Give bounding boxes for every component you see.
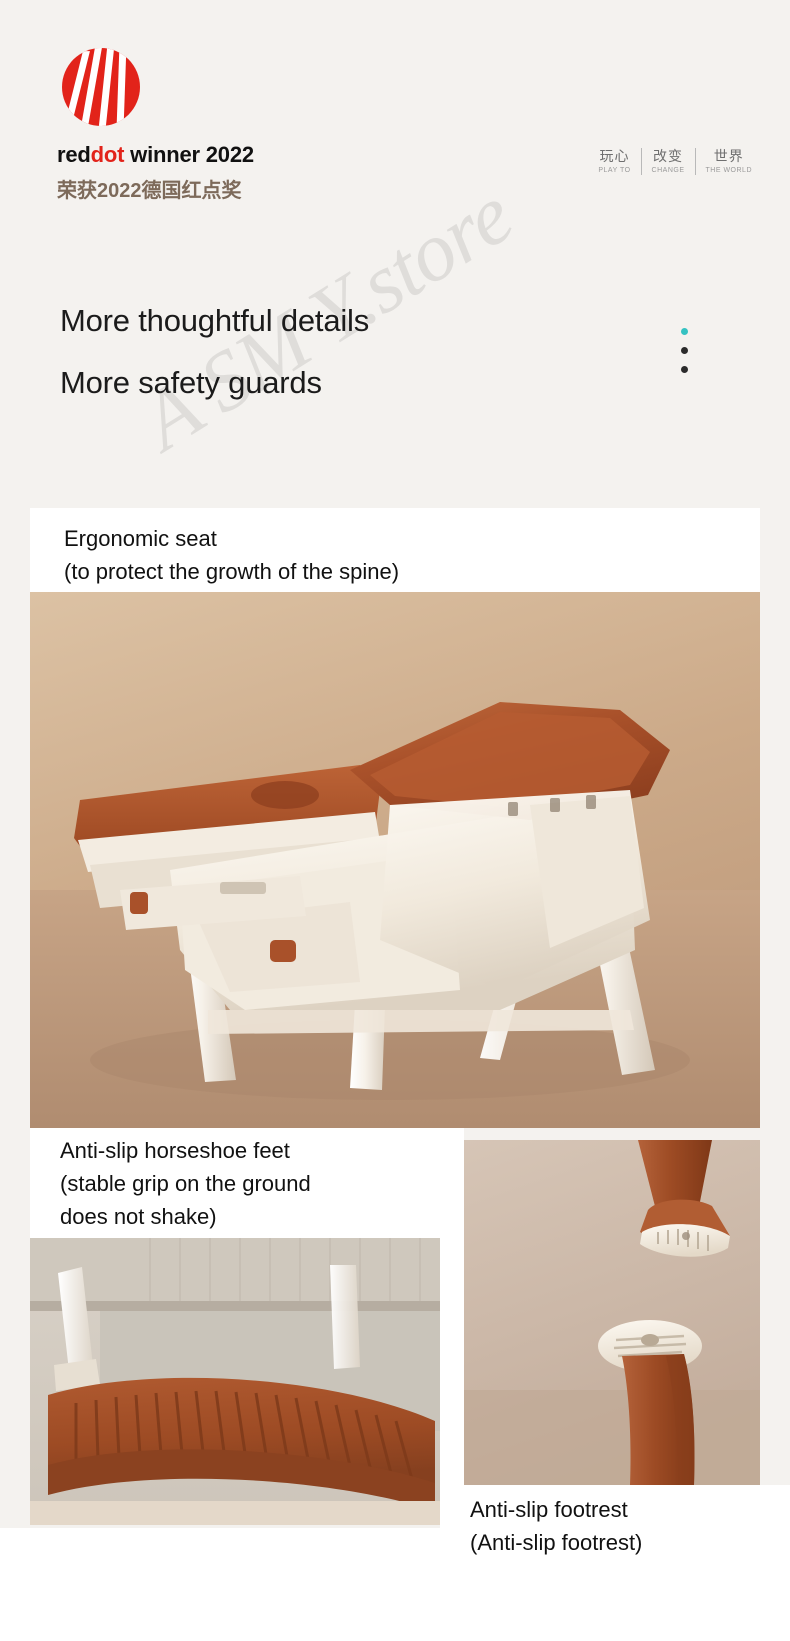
main-product-photo [30,590,760,1128]
slogan-en-2: CHANGE [652,167,685,175]
lower-left-photo [30,1225,440,1525]
caption-footrest-line-1: Anti-slip footrest [462,1485,790,1526]
product-detail-page: reddot winner 2022 荣获2022德国红点奖 玩心 PLAY T… [0,0,790,1641]
slogan-cn-2: 改变 [652,148,685,164]
reddot-award-block: reddot winner 2022 荣获2022德国红点奖 [57,48,397,203]
headline-line-1: More thoughtful details [60,290,369,352]
reddot-title-dot: dot [91,142,125,167]
reddot-award-subtitle: 荣获2022德国红点奖 [57,174,397,203]
decoration-dot-2 [681,347,688,354]
photo-gap-filler [440,1128,464,1528]
caption-seat-line-1: Ergonomic seat [30,508,760,555]
slogan-cn-3: 世界 [706,148,753,164]
page-header: reddot winner 2022 荣获2022德国红点奖 玩心 PLAY T… [0,0,790,270]
headline-line-2: More safety guards [60,352,369,414]
dot-decoration [681,328,688,385]
slogan-cell-1: 玩心 PLAY TO [588,148,641,175]
headline-block: More thoughtful details More safety guar… [60,290,369,414]
slogan-cell-2: 改变 CHANGE [642,148,696,175]
brand-slogan: 玩心 PLAY TO 改变 CHANGE 世界 THE WORLD [588,148,754,175]
slogan-cn-1: 玩心 [598,148,630,164]
caption-footrest-line-2: (Anti-slip footrest) [462,1526,790,1559]
slogan-cell-3: 世界 THE WORLD [696,148,755,175]
decoration-dot-3 [681,366,688,373]
caption-seat-line-2: (to protect the growth of the spine) [30,555,760,588]
reddot-award-title: reddot winner 2022 [57,142,397,168]
decoration-dot-1 [681,328,688,335]
slogan-en-1: PLAY TO [598,167,630,175]
caption-card-feet: Anti-slip horseshoe feet (stable grip on… [30,1128,440,1238]
caption-feet-line-1: Anti-slip horseshoe feet [30,1128,440,1167]
reddot-logo-icon [62,48,140,126]
reddot-title-rest: winner 2022 [124,142,254,167]
caption-feet-line-3: does not shake) [30,1200,440,1233]
caption-card-seat: Ergonomic seat (to protect the growth of… [30,508,760,592]
caption-card-footrest: Anti-slip footrest (Anti-slip footrest) [462,1485,790,1581]
lower-right-photo [462,1140,760,1485]
reddot-title-red: red [57,142,91,167]
caption-feet-line-2: (stable grip on the ground [30,1167,440,1200]
slogan-en-3: THE WORLD [706,167,753,175]
